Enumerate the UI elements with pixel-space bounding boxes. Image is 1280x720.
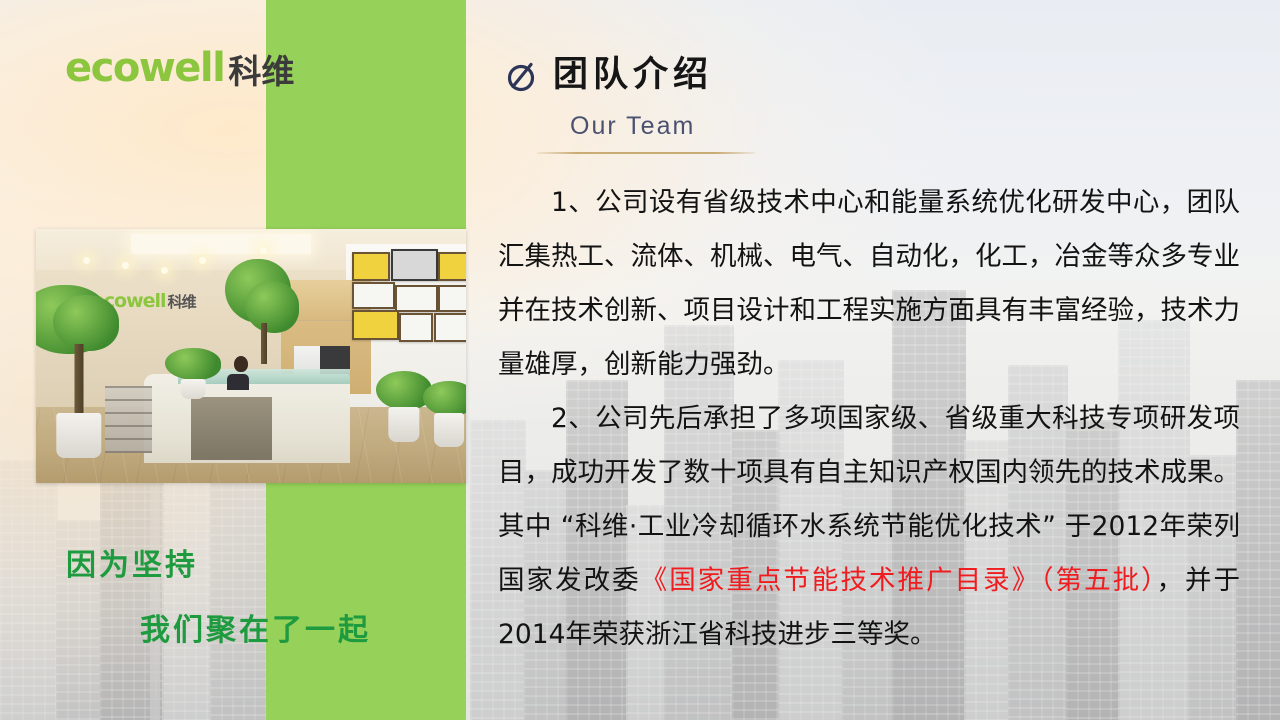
page-subtitle: Our Team	[570, 112, 695, 141]
diameter-symbol-icon	[505, 59, 539, 93]
logo-chinese-name: 科维	[228, 55, 294, 88]
logo-wordmark: ecowell	[65, 48, 224, 88]
page-title: 团队介绍	[553, 58, 713, 93]
office-reception-photo: ecowell科维	[36, 229, 466, 483]
body-text-block: 1、公司设有省级技术中心和能量系统优化研发中心，团队汇集热工、流体、机械、电气、…	[498, 176, 1240, 662]
brand-logo: ecowell 科维	[65, 48, 294, 88]
title-underline-rule	[537, 152, 755, 154]
slogan-line-1: 因为坚持	[66, 540, 198, 584]
paragraph-1: 1、公司设有省级技术中心和能量系统优化研发中心，团队汇集热工、流体、机械、电气、…	[498, 176, 1240, 392]
paragraph-2: 2、公司先后承担了多项国家级、省级重大科技专项研发项目，成功开发了数十项具有自主…	[498, 392, 1240, 662]
section-header: 团队介绍	[505, 58, 713, 93]
paragraph-2-highlight: 《国家重点节能技术推广目录》（第五批）	[641, 565, 1157, 596]
slide: ecowell 科维 ecowell科维	[0, 0, 1280, 720]
slogan-line-2: 我们聚在了一起	[140, 605, 371, 649]
